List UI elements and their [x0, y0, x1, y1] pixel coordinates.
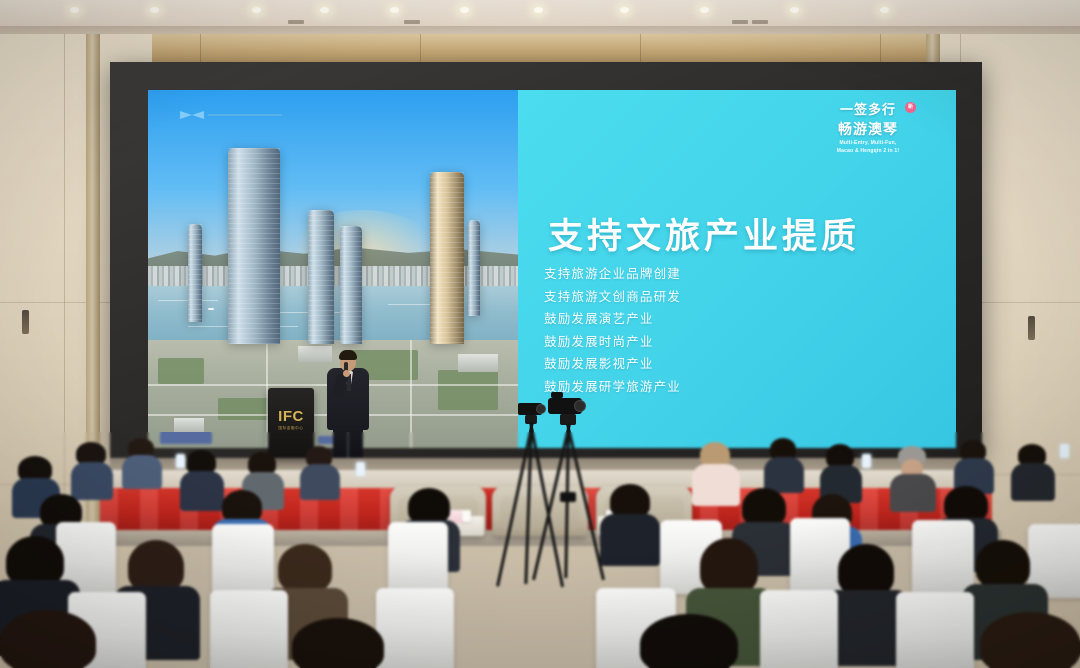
attendee-phone — [356, 462, 365, 476]
ceiling-downlight — [252, 7, 261, 13]
ceiling-downlight — [534, 7, 543, 13]
ceiling-downlight — [880, 7, 889, 13]
speaker-hand — [343, 370, 350, 377]
audience-chair — [376, 588, 454, 668]
wall-sconce — [22, 310, 29, 334]
ceiling-downlight — [150, 7, 159, 13]
slide-bullet: 鼓励发展研学旅游产业 — [544, 379, 924, 396]
audience-chair — [760, 590, 838, 668]
attendee-phone — [1060, 444, 1069, 458]
podium-subtitle: 国际金融中心 — [268, 426, 314, 431]
ceiling-vent — [404, 20, 420, 24]
wall-sconce — [1028, 316, 1035, 340]
ceiling-downlight — [620, 7, 629, 13]
audience-chair — [896, 592, 974, 668]
camera-viewfinder — [551, 392, 563, 398]
attendee-phone — [862, 454, 871, 468]
ceiling-downlight — [460, 7, 469, 13]
podium-brand-label: IFC — [268, 408, 314, 425]
slide-title: 支持文旅产业提质 — [548, 208, 938, 259]
ceiling-downlight — [390, 7, 399, 13]
slide-bullet: 鼓励发展影视产业 — [544, 356, 924, 373]
audience-area — [0, 432, 1080, 668]
slide-campaign-logo: 新 一签多行 畅游澳琴 Multi-Entry, Multi-Fun, Maca… — [804, 98, 932, 156]
far-city-skyline — [148, 266, 520, 288]
screenshot-root: 新 一签多行 畅游澳琴 Multi-Entry, Multi-Fun, Maca… — [0, 0, 1080, 668]
logo-line-2: 畅游澳琴 — [838, 119, 898, 139]
skyscraper — [468, 220, 480, 316]
audience-chair — [210, 590, 288, 668]
audience-chair — [212, 524, 274, 600]
camera-lens-icon — [536, 404, 546, 414]
slide-bullet: 鼓励发展演艺产业 — [544, 311, 924, 328]
skyscraper — [308, 210, 334, 344]
audience-chair — [388, 522, 448, 596]
ceiling-vent — [288, 20, 304, 24]
harbour-water — [148, 286, 520, 344]
skyscraper-gold — [430, 172, 464, 344]
camera-lens-icon — [574, 400, 586, 412]
ceiling-downlight — [700, 7, 709, 13]
ceiling-downlight — [70, 7, 79, 13]
ceiling-vent — [732, 20, 748, 24]
ceiling-vent — [752, 20, 768, 24]
attendee-phone — [176, 454, 185, 468]
logo-line-1: 一签多行 — [840, 99, 896, 118]
ceiling-downlight — [320, 7, 329, 13]
skyscraper — [188, 224, 202, 322]
slide-bullet: 支持旅游企业品牌创建 — [544, 266, 924, 283]
speaker-hair — [339, 350, 357, 360]
logo-english-line-1: Multi-Entry, Multi-Fun, — [840, 140, 897, 147]
slide-bullet-list: 支持旅游企业品牌创建 支持旅游文创商品研发 鼓励发展演艺产业 鼓励发展时尚产业 … — [544, 266, 924, 401]
skyscraper — [340, 226, 362, 344]
logo-new-badge: 新 — [905, 102, 916, 113]
logo-english-line-2: Macao & Hengqin 2 in 1! — [837, 148, 899, 155]
audience-chair — [912, 520, 974, 594]
slide-brand-mark-icon — [178, 108, 288, 120]
slide-bullet: 鼓励发展时尚产业 — [544, 334, 924, 351]
ceiling-downlight — [790, 7, 799, 13]
slide-bullet: 支持旅游文创商品研发 — [544, 289, 924, 306]
skyscraper-main — [228, 148, 280, 344]
boat — [208, 308, 214, 310]
